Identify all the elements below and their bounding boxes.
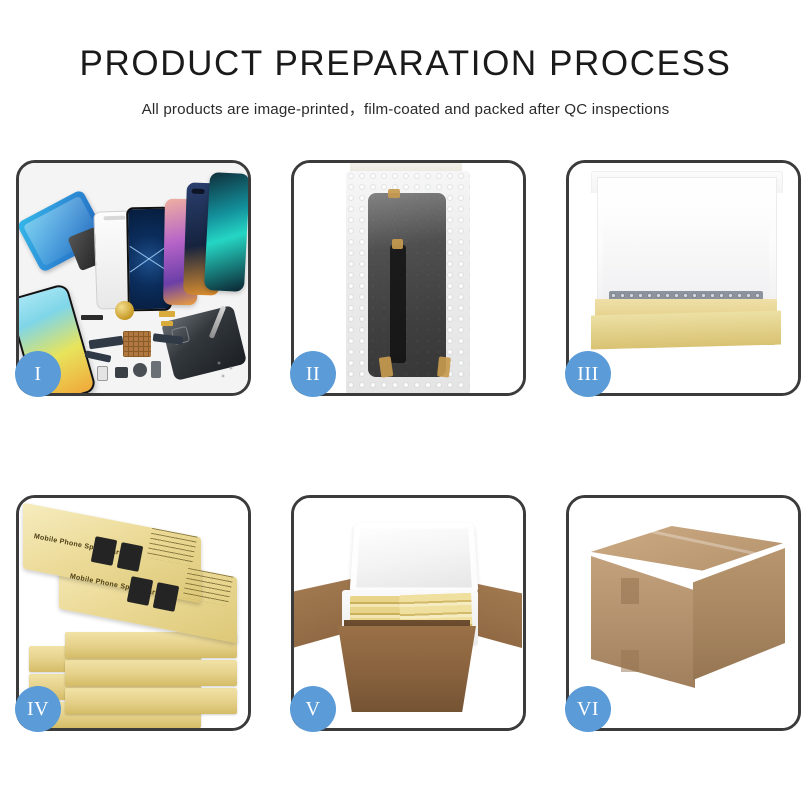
process-step-card-2: II: [291, 160, 526, 396]
carton-body-open: [338, 626, 476, 712]
process-step-card-3: III: [566, 160, 801, 396]
packed-display-assembly: [368, 193, 446, 377]
connector-grid-chip: [123, 331, 151, 357]
process-step-card-5: V: [291, 495, 526, 731]
sealed-carton-left-face: [591, 556, 695, 688]
vibrator-motor-part: [133, 363, 147, 377]
step-badge-5: V: [290, 686, 336, 732]
protective-tape-2: [392, 239, 403, 249]
earpiece-speaker: [81, 315, 103, 320]
step-badge-1: I: [15, 351, 61, 397]
gold-box-layer: [65, 688, 237, 714]
process-step-card-4: Mobile Phone Spare Parts Mobile Phone Sp…: [16, 495, 251, 731]
product-preparation-page: PRODUCT PREPARATION PROCESS All products…: [0, 0, 811, 811]
step-badge-4: IV: [15, 686, 61, 732]
wireless-charging-coil: [115, 301, 134, 320]
screws-group: [215, 359, 239, 381]
flex-cable-a: [89, 336, 124, 350]
camera-module-part: [115, 367, 128, 378]
inner-box-foam-sheet: [603, 213, 769, 301]
sim-tray-part: [97, 366, 108, 381]
page-header: PRODUCT PREPARATION PROCESS All products…: [0, 0, 811, 119]
protective-tape-4: [437, 356, 451, 377]
page-subtitle: All products are image-printed，film-coat…: [0, 97, 811, 119]
packed-flex-cable: [390, 245, 406, 363]
inner-box-front-panel: [591, 311, 781, 350]
bubble-wrap-bag: [346, 171, 470, 393]
page-title: PRODUCT PREPARATION PROCESS: [0, 44, 811, 84]
process-steps-grid: I II: [16, 160, 802, 731]
carton-tape-mark-bottom: [621, 650, 639, 672]
step-badge-2: II: [290, 351, 336, 397]
gold-box-layer: [65, 660, 237, 686]
button-flex-part: [151, 361, 161, 378]
step-badge-3: III: [565, 351, 611, 397]
process-step-card-6: VI: [566, 495, 801, 731]
phone-teal-display: [204, 172, 248, 292]
foam-box-lid: [350, 523, 479, 593]
gold-connector-2: [161, 321, 173, 326]
gold-connector-1: [159, 311, 175, 317]
protective-tape-3: [379, 356, 394, 377]
carton-tape-mark-top: [621, 578, 639, 604]
protective-tape-1: [388, 189, 400, 198]
step-badge-6: VI: [565, 686, 611, 732]
process-step-card-1: I: [16, 160, 251, 396]
